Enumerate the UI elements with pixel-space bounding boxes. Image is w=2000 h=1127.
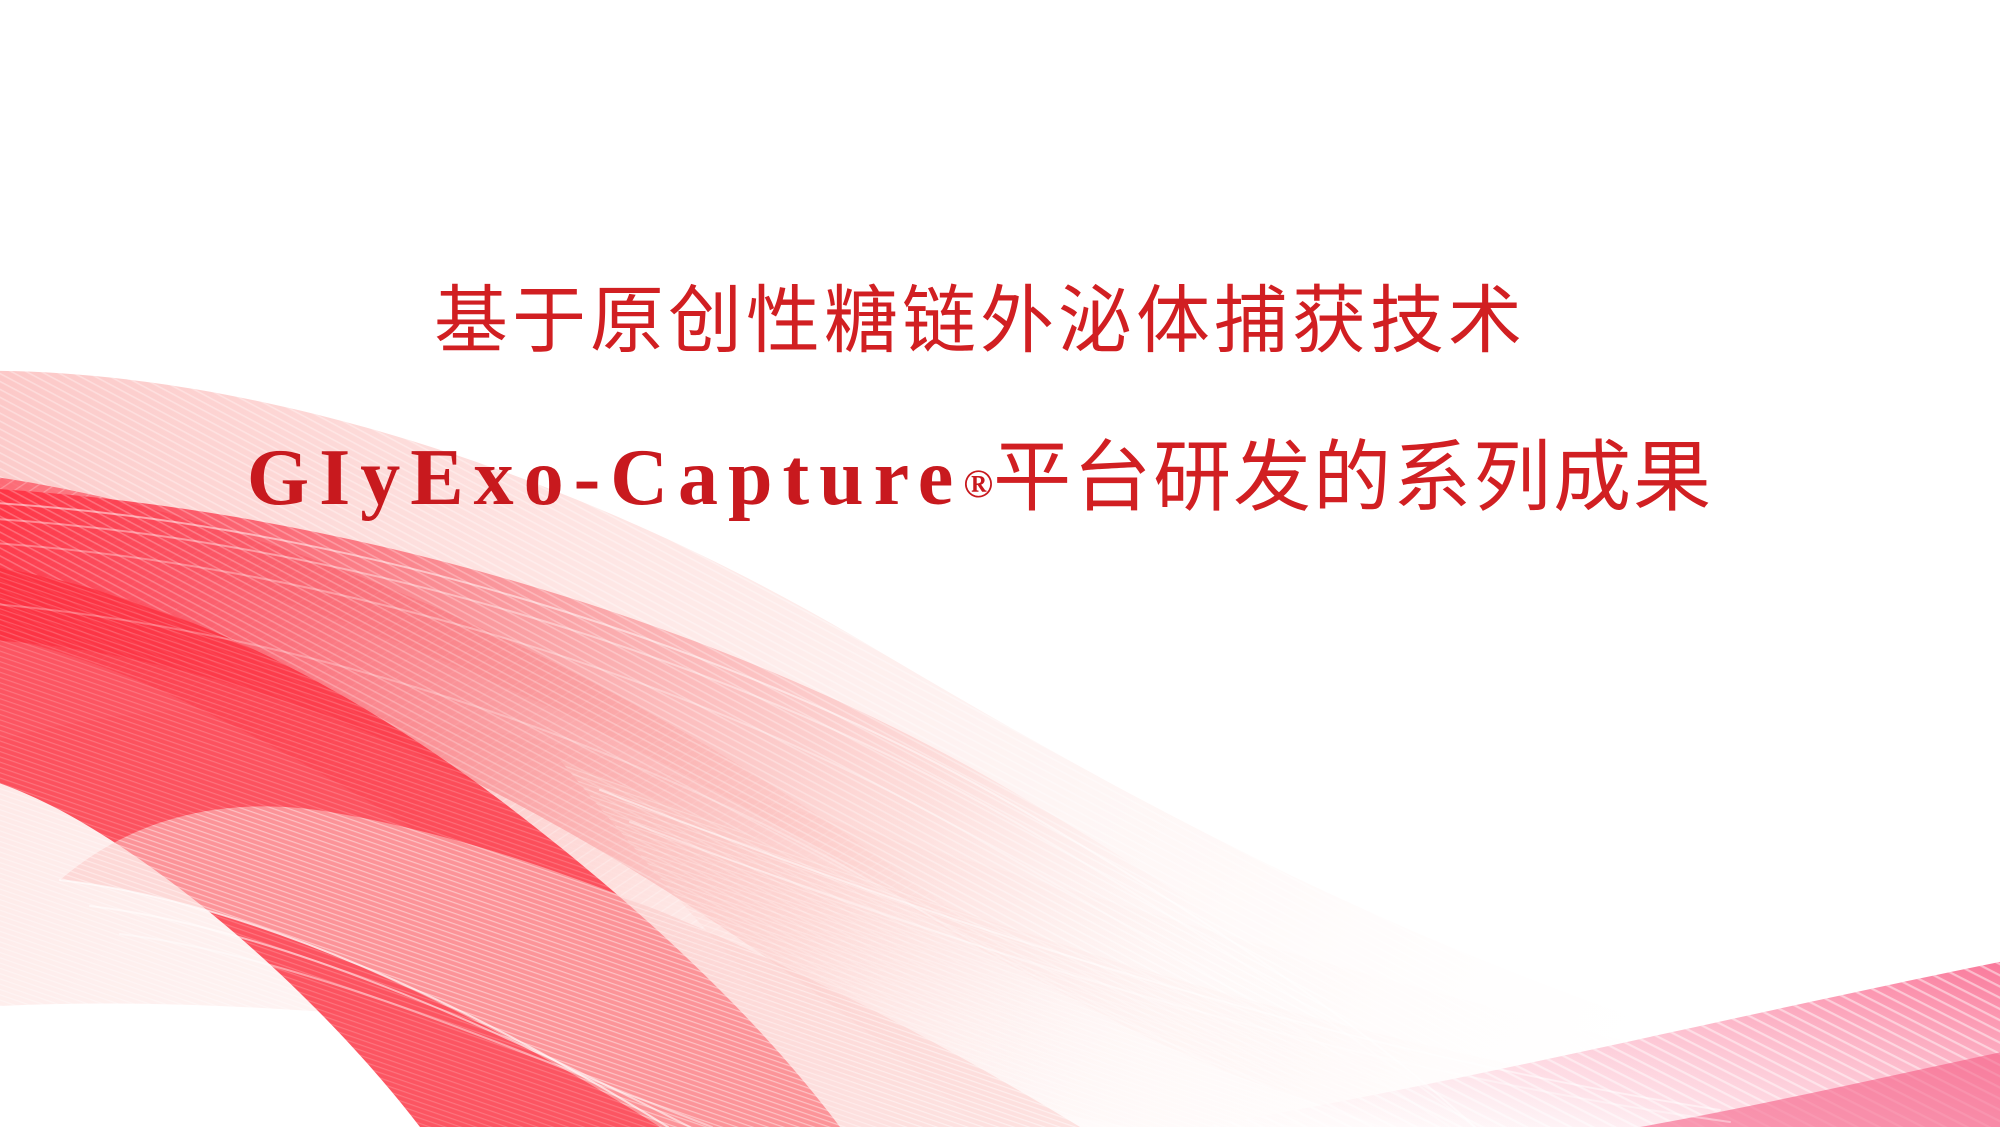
title-line-primary: 基于原创性糖链外泌体捕获技术 <box>0 278 1960 364</box>
ribbon-hairlines <box>0 500 1730 1127</box>
ribbon-core-red <box>0 486 1470 1127</box>
title-line-secondary: GIyExo-Capture®平台研发的系列成果 <box>0 425 1960 530</box>
ribbon-corner-stripe <box>1200 950 2000 1127</box>
brand-name-latin: GIyExo-Capture <box>247 434 963 522</box>
ribbon-left-wedge <box>0 560 840 1127</box>
ribbon-lower-left-light <box>60 806 1080 1127</box>
ribbon-right-fan <box>560 760 2000 1127</box>
abstract-wave-ribbons-graphic <box>0 0 2000 1127</box>
ribbon-pale-far <box>0 708 2000 1127</box>
ribbon-mid-red <box>0 470 1320 1127</box>
presentation-slide: 基于原创性糖链外泌体捕获技术 GIyExo-Capture®平台研发的系列成果 <box>0 0 2000 1127</box>
title-line-secondary-cjk: 平台研发的系列成果 <box>993 433 1713 521</box>
registered-trademark-icon: ® <box>963 461 993 506</box>
